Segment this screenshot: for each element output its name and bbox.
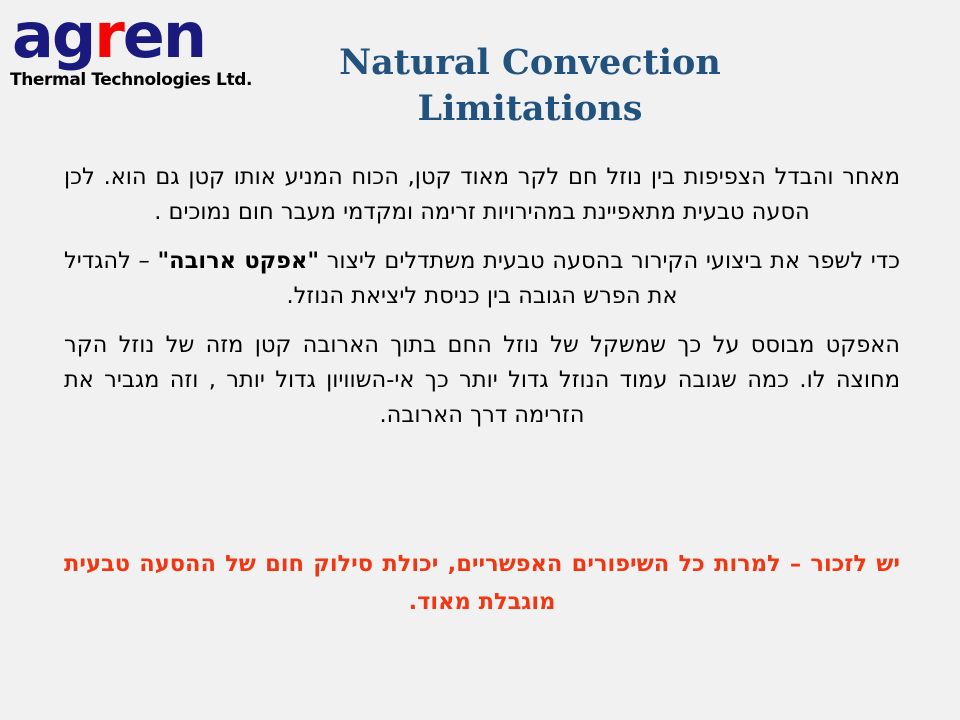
presentation-slide: agren Thermal Technologies Ltd. Natural … (0, 0, 960, 720)
slide-title-line-1: Natural Convection (250, 40, 810, 86)
company-logo: agren Thermal Technologies Ltd. (4, 4, 266, 110)
logo-tagline: Thermal Technologies Ltd. (4, 70, 266, 90)
chimney-text-before: כדי לשפר את ביצועי הקירור בהסעה טבעית מש… (319, 248, 900, 274)
paragraph-density-difference: מאחר והבדל הצפיפות בין נוזל חם לקר מאוד … (64, 160, 900, 230)
conclusion-remember: יש לזכור – למרות כל השיפורים האפשריים, י… (64, 545, 900, 621)
slide-body: מאחר והבדל הצפיפות בין נוזל חם לקר מאוד … (64, 160, 900, 445)
paragraph-chimney-effect: כדי לשפר את ביצועי הקירור בהסעה טבעית מש… (64, 244, 900, 314)
logo-wordmark: agren (4, 4, 266, 68)
logo-wordmark-accent-letter: r (94, 0, 123, 72)
slide-title: Natural Convection Limitations (250, 40, 810, 132)
logo-wordmark-part1: ag (12, 0, 94, 72)
chimney-effect-term: "אפקט ארובה" (157, 248, 319, 274)
logo-wordmark-part2: en (123, 0, 205, 72)
paragraph-effect-basis: האפקט מבוסס על כך שמשקל של נוזל החם בתוך… (64, 328, 900, 433)
slide-title-line-2: Limitations (250, 86, 810, 132)
